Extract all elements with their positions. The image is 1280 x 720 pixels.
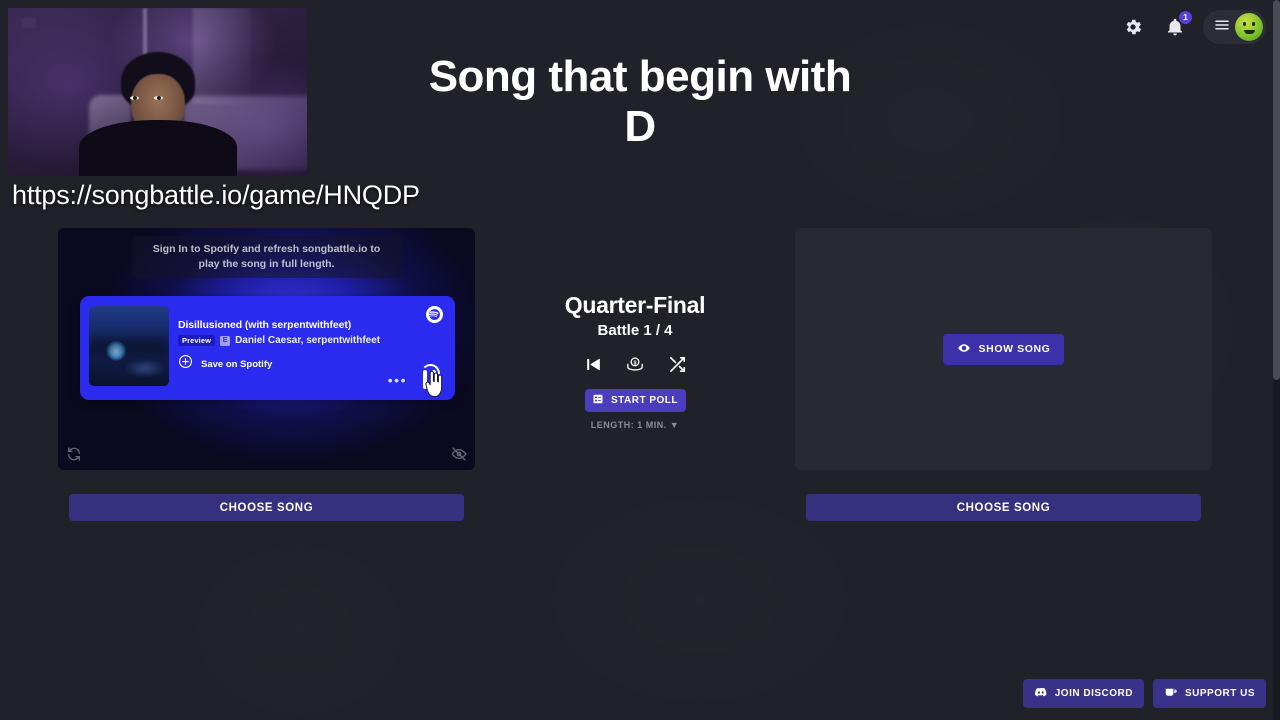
avatar[interactable]	[1235, 13, 1263, 41]
join-discord-label: JOIN DISCORD	[1055, 688, 1133, 699]
poll-length-selector[interactable]: LENGTH: 1 MIN. ▼	[505, 420, 765, 430]
stream-url-overlay: https://songbattle.io/game/HNQDP	[12, 180, 420, 211]
pause-bar-left	[423, 370, 427, 389]
right-choose-song-button[interactable]: CHOOSE SONG	[806, 494, 1201, 521]
webcam-person-torso	[79, 120, 237, 176]
left-song-card: Sign In to Spotify and refresh songbattl…	[58, 228, 475, 470]
notification-badge: 1	[1179, 11, 1192, 24]
support-us-label: SUPPORT US	[1185, 688, 1255, 699]
show-song-button[interactable]: SHOW SONG	[943, 334, 1065, 365]
join-discord-button[interactable]: JOIN DISCORD	[1023, 679, 1144, 708]
gear-icon	[1123, 17, 1143, 37]
header-toolbar: 1	[1119, 10, 1266, 44]
spotify-signin-tip: Sign In to Spotify and refresh songbattl…	[132, 236, 402, 278]
more-options-icon[interactable]: •••	[388, 376, 407, 384]
money-icon[interactable]: $	[624, 353, 646, 375]
control-icon-row: $	[505, 353, 765, 375]
preview-badge: Preview	[178, 335, 215, 346]
footer-links: JOIN DISCORD SUPPORT US	[1023, 679, 1266, 708]
webcam-feed	[8, 8, 307, 176]
webcam-doorframe	[193, 8, 251, 104]
eye-icon	[957, 341, 971, 358]
right-song-column: SHOW SONG CHOOSE SONG	[795, 228, 1212, 521]
support-us-button[interactable]: SUPPORT US	[1153, 679, 1266, 708]
page-title: Song that begin with D	[410, 52, 870, 152]
start-poll-button[interactable]: START POLL	[585, 389, 686, 412]
coffee-cup-icon	[1164, 685, 1178, 702]
scrollbar-thumb[interactable]	[1273, 0, 1280, 380]
right-song-card: SHOW SONG	[795, 228, 1212, 470]
shuffle-icon[interactable]	[666, 353, 688, 375]
save-on-spotify-button[interactable]: Save on Spotify	[178, 354, 272, 374]
track-meta-row: Preview E Daniel Caesar, serpentwithfeet	[178, 335, 380, 346]
track-title: Disillusioned (with serpentwithfeet)	[178, 319, 351, 331]
plus-circle-icon	[178, 354, 193, 374]
notifications-button[interactable]: 1	[1161, 13, 1189, 41]
svg-text:$: $	[634, 360, 637, 366]
webcam-wall-object	[22, 18, 36, 28]
refresh-icon[interactable]	[66, 446, 82, 462]
center-control-panel: Quarter-Final Battle 1 / 4 $	[505, 292, 765, 430]
spotify-logo-icon[interactable]	[426, 306, 443, 323]
menu-avatar-button[interactable]	[1203, 10, 1266, 44]
webcam-person-eye-right	[154, 96, 163, 100]
save-on-spotify-label: Save on Spotify	[201, 359, 272, 370]
hamburger-menu-icon[interactable]	[1213, 16, 1231, 39]
spotify-embed-player[interactable]: Disillusioned (with serpentwithfeet) Pre…	[80, 296, 455, 400]
album-art	[89, 306, 169, 386]
poll-icon	[592, 393, 604, 408]
skip-previous-icon[interactable]	[582, 353, 604, 375]
eye-off-icon[interactable]	[451, 446, 467, 462]
webcam-person-eye-left	[130, 96, 139, 100]
battle-counter: Battle 1 / 4	[505, 322, 765, 339]
left-song-column: Sign In to Spotify and refresh songbattl…	[58, 228, 475, 521]
explicit-badge: E	[220, 336, 230, 346]
left-choose-song-button[interactable]: CHOOSE SONG	[69, 494, 464, 521]
show-song-label: SHOW SONG	[979, 343, 1051, 355]
discord-icon	[1034, 685, 1048, 702]
start-poll-label: START POLL	[611, 395, 678, 406]
settings-button[interactable]	[1119, 13, 1147, 41]
pause-button[interactable]	[419, 366, 441, 392]
pause-bar-right	[432, 370, 436, 389]
round-name: Quarter-Final	[505, 292, 765, 319]
track-artists: Daniel Caesar, serpentwithfeet	[235, 335, 380, 346]
